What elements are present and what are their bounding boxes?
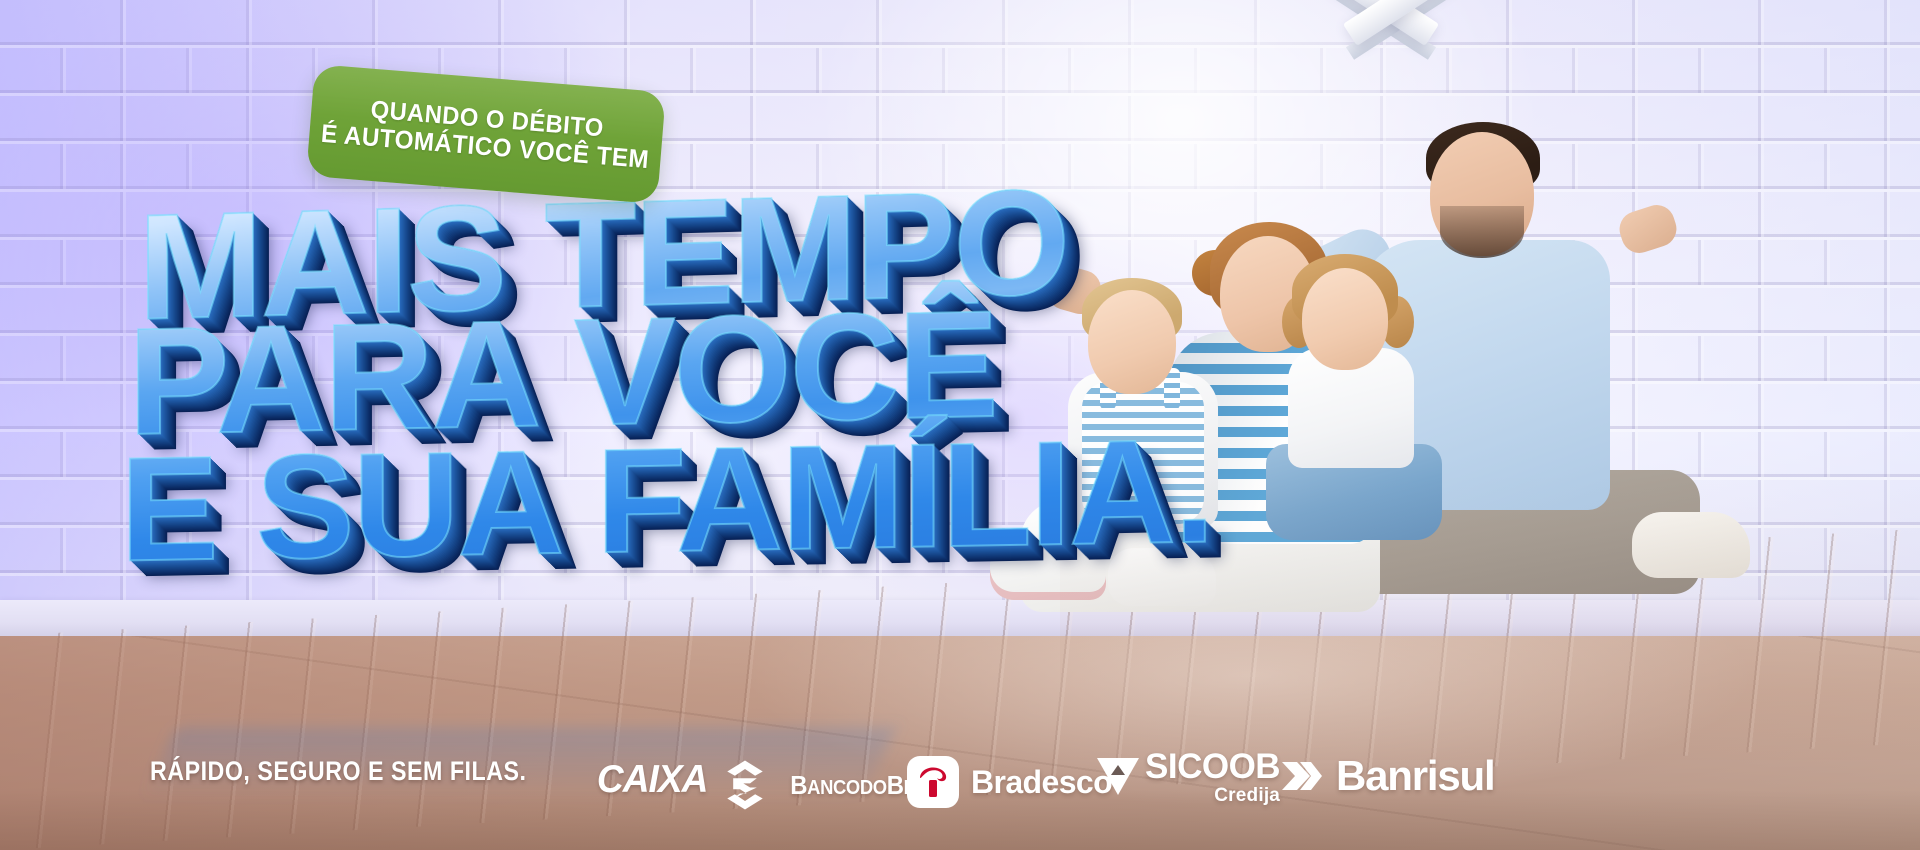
sicoob-sublabel: Credija bbox=[1214, 785, 1280, 807]
banco-do-brasil-mark bbox=[718, 758, 772, 812]
bradesco-tree-icon bbox=[907, 756, 959, 808]
father-beard bbox=[1440, 206, 1524, 258]
caixa-wordmark: CAIXA bbox=[597, 758, 708, 802]
family-photo bbox=[1060, 0, 1920, 760]
headline-line-3: E SUA FAMÍLIA. E SUA FAMÍLIA. E SUA FAMÍ… bbox=[120, 406, 1213, 595]
sicoob-wordmark-stack: SICOOB Credija bbox=[1145, 750, 1280, 807]
headline-line-3-rim: E SUA FAMÍLIA. bbox=[120, 406, 1213, 595]
bb-word-do: DO bbox=[860, 777, 887, 799]
bradesco-wordmark: Bradesco bbox=[971, 764, 1112, 801]
girl-head bbox=[1302, 268, 1388, 370]
partner-logo-caixa[interactable]: CAIXA bbox=[597, 758, 708, 802]
partner-logo-bradesco[interactable]: Bradesco bbox=[907, 756, 1112, 808]
boy-head bbox=[1088, 290, 1176, 394]
banrisul-chevron-icon bbox=[1278, 753, 1324, 799]
tagline: RÁPIDO, SEGURO E SEM FILAS. bbox=[150, 756, 526, 787]
sicoob-wordmark: SICOOB bbox=[1145, 750, 1280, 784]
father-shoe bbox=[1632, 512, 1750, 578]
partner-logo-banrisul[interactable]: Banrisul bbox=[1278, 752, 1494, 800]
bb-word-b2: B bbox=[887, 770, 904, 800]
sicoob-triangle-icon bbox=[1095, 755, 1141, 797]
banrisul-wordmark: Banrisul bbox=[1336, 752, 1494, 800]
partner-logo-sicoob[interactable]: SICOOB Credija bbox=[1095, 750, 1280, 807]
promo-banner: MAIS TEMPO MAIS TEMPO MAIS TEMPO MAIS TE… bbox=[0, 0, 1920, 850]
bb-word-anco: ANCO bbox=[807, 777, 860, 799]
headline-3d: MAIS TEMPO MAIS TEMPO MAIS TEMPO MAIS TE… bbox=[120, 168, 980, 588]
bb-word-b1: B bbox=[790, 770, 807, 800]
